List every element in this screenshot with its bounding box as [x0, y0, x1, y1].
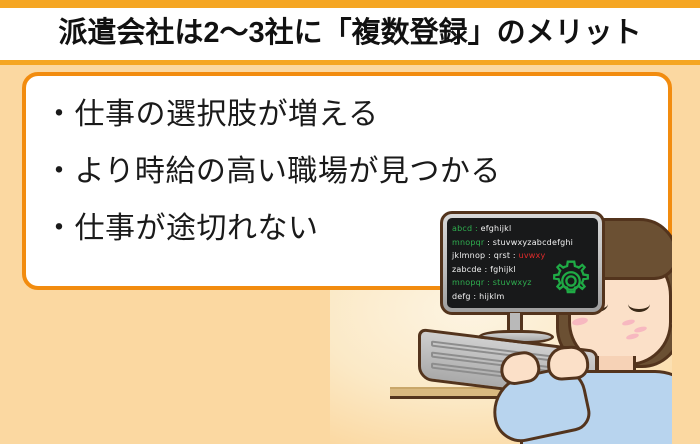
code-line: abcd : efghijkl — [452, 222, 598, 236]
gear-icon — [548, 258, 594, 304]
illustration: abcd : efghijkl mnopqr : stuvwxyzabcdefg… — [0, 0, 700, 444]
eye-right-icon — [628, 296, 650, 312]
code-line: mnopqr : stuvwxyzabcdefghi — [452, 236, 598, 250]
slide-canvas: 派遣会社は2〜3社に「複数登録」のメリット ・仕事の選択肢が増える ・より時給の… — [0, 0, 700, 444]
right-background-strip — [672, 65, 700, 444]
hand-right — [546, 345, 590, 382]
